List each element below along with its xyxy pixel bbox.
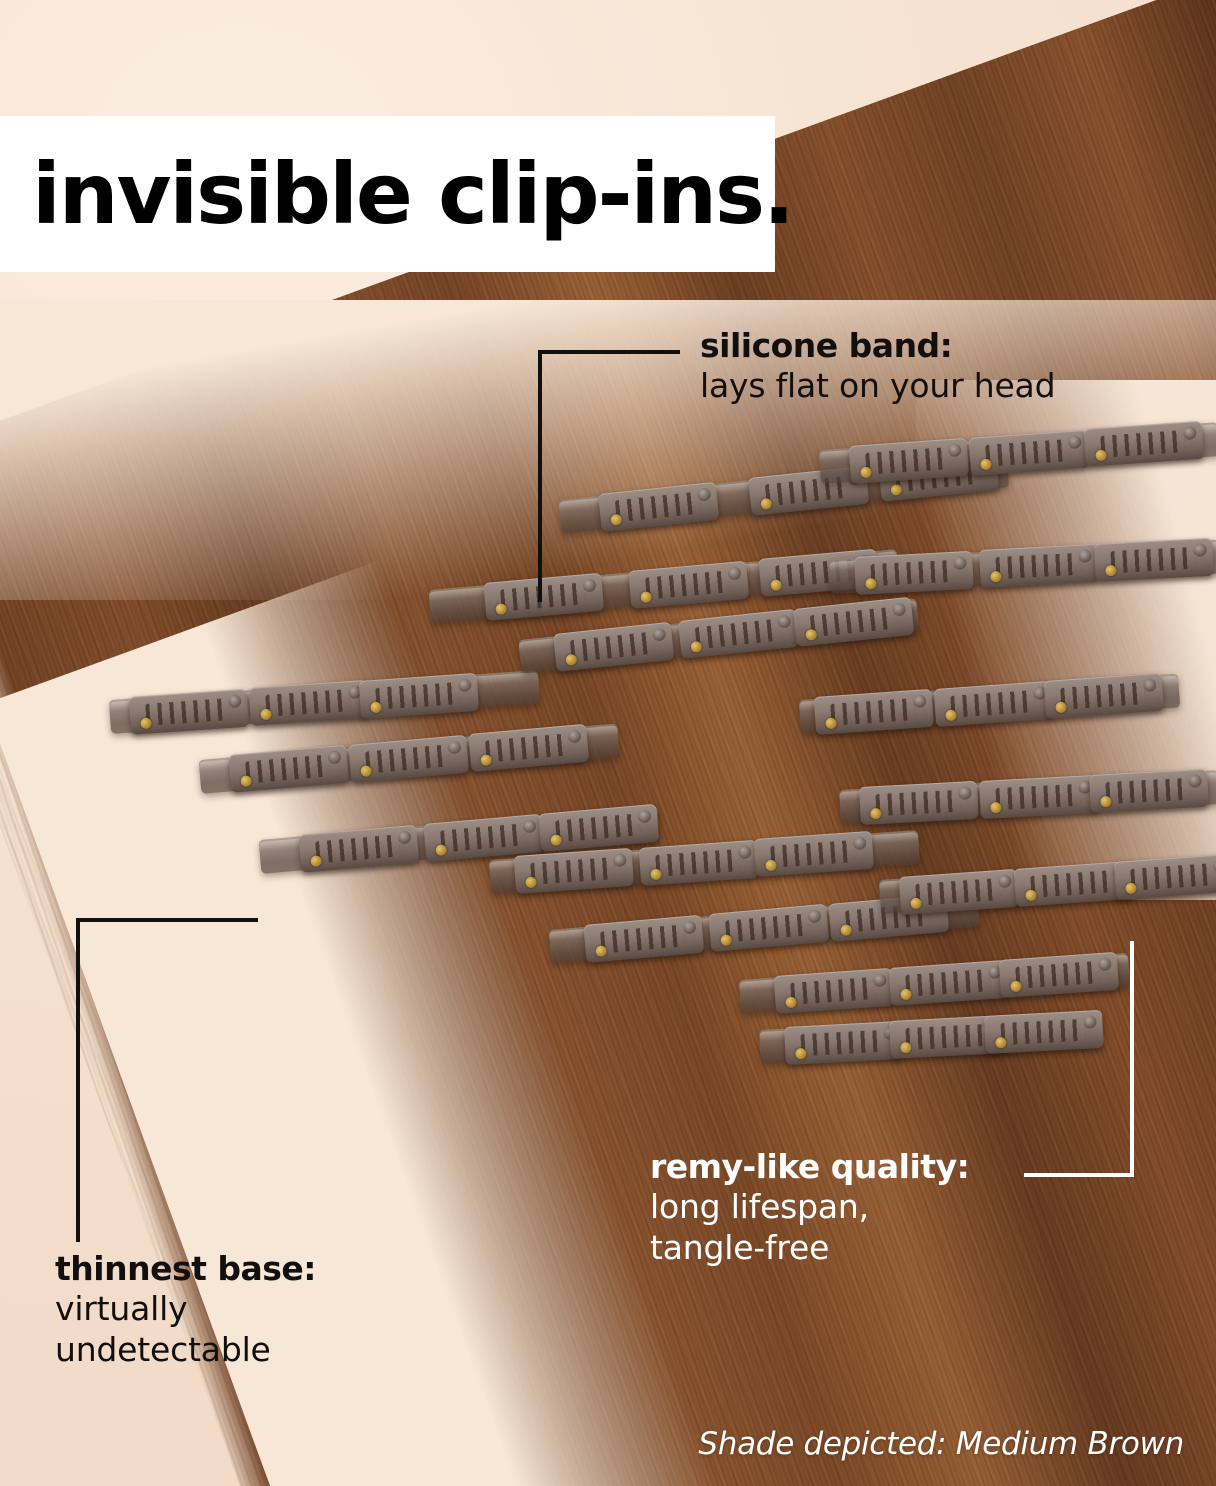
clip-teeth <box>915 878 1000 906</box>
snap-clip <box>854 551 974 595</box>
snap-clip <box>1089 769 1209 813</box>
clip-hook <box>948 443 962 457</box>
clip-rivet <box>795 1048 807 1060</box>
clip-teeth <box>245 755 331 784</box>
callout-heading: silicone band: <box>700 327 1055 365</box>
clip-teeth <box>485 734 571 763</box>
clip-teeth <box>875 790 960 816</box>
clip-teeth <box>265 689 350 717</box>
snap-clip <box>359 672 479 718</box>
clip-rivet <box>480 755 492 767</box>
clip-rivet <box>995 1037 1007 1049</box>
clip-hook <box>777 615 791 629</box>
clip-teeth <box>905 969 990 997</box>
clip-hook <box>998 874 1012 888</box>
snap-clip <box>1044 673 1164 719</box>
clip-rivet <box>1095 450 1107 462</box>
clip-hook <box>1193 543 1207 557</box>
clip-rivet <box>720 934 732 946</box>
leader-vertical-segment <box>1130 941 1134 1177</box>
clip-rivet <box>435 844 447 856</box>
clip-hook <box>522 819 536 833</box>
snap-clip <box>1114 853 1216 899</box>
clip-rivet <box>690 641 702 653</box>
snap-clip <box>859 781 979 825</box>
clip-rivet <box>860 466 872 478</box>
clip-hook <box>682 920 696 934</box>
clip-teeth <box>985 439 1070 467</box>
clip-teeth <box>995 553 1080 579</box>
clip-teeth <box>1105 778 1190 804</box>
clip-rivet <box>990 802 1002 814</box>
clip-hook <box>913 694 927 708</box>
clip-rivet <box>840 924 852 936</box>
clip-rivet <box>1100 796 1112 808</box>
clip-rivet <box>760 498 772 510</box>
clip-teeth <box>375 682 460 710</box>
clip-hook <box>953 556 967 570</box>
snap-clip <box>899 868 1019 914</box>
clip-teeth <box>800 1029 885 1055</box>
clip-teeth <box>655 849 740 877</box>
snap-clip <box>129 688 249 734</box>
clip-teeth <box>865 447 950 475</box>
leader-horizontal-segment <box>76 918 258 922</box>
clip-teeth <box>695 619 781 650</box>
clip-rivet <box>1125 882 1137 894</box>
clip-rivet <box>370 701 382 713</box>
clip-rivet <box>1105 565 1117 577</box>
clip-teeth <box>1110 547 1195 573</box>
clip-rivet <box>980 458 992 470</box>
callout-body: lays flat on your head <box>700 365 1055 406</box>
clip-hook <box>637 809 651 823</box>
clip-teeth <box>1130 863 1215 891</box>
callout-body: virtually undetectable <box>55 1288 316 1371</box>
clip-hook <box>397 830 411 844</box>
snap-clip <box>969 429 1089 475</box>
clip-rivet <box>565 654 577 666</box>
clip-rivet <box>260 709 272 721</box>
clip-rivet <box>1010 980 1022 992</box>
leader-vertical-segment <box>538 350 542 602</box>
clip-hook <box>807 909 821 923</box>
clip-hook <box>697 487 711 501</box>
title-banner: invisible clip-ins. <box>0 116 775 272</box>
clip-teeth <box>810 607 896 638</box>
clip-rivet <box>240 776 252 788</box>
clip-hook <box>228 694 242 708</box>
clip-rivet <box>785 996 797 1008</box>
page-title: invisible clip-ins. <box>0 152 793 236</box>
clip-rivet <box>140 717 152 729</box>
clip-teeth <box>555 813 641 842</box>
clip-teeth <box>440 823 526 852</box>
clip-rivet <box>990 571 1002 583</box>
leader-line-silicone-band <box>538 350 680 602</box>
clip-hook <box>327 751 341 765</box>
clip-hook <box>727 566 741 580</box>
clip-rivet <box>525 877 537 889</box>
clip-hook <box>1068 435 1082 449</box>
clip-teeth <box>315 834 401 863</box>
clip-teeth <box>870 559 955 585</box>
clip-teeth <box>365 744 451 773</box>
clip-teeth <box>905 1024 990 1050</box>
snap-clip <box>1094 538 1214 582</box>
clip-rivet <box>870 808 882 820</box>
snap-clip <box>889 959 1009 1005</box>
snap-clip <box>849 438 969 484</box>
snap-clip <box>814 689 934 735</box>
clip-rivet <box>890 484 902 496</box>
callout-heading: thinnest base: <box>55 1250 316 1288</box>
clip-rivet <box>900 1042 912 1054</box>
clip-rivet <box>865 578 877 590</box>
clip-hook <box>567 730 581 744</box>
clip-rivet <box>360 765 372 777</box>
clip-rivet <box>1025 889 1037 901</box>
leader-vertical-segment <box>76 918 80 1242</box>
callout-heading: remy-like quality: <box>650 1148 969 1186</box>
callout-remy-quality: remy-like quality: long lifespan, tangle… <box>650 1148 969 1268</box>
callout-thinnest-base: thinnest base: virtually undetectable <box>55 1250 316 1370</box>
clip-hook <box>447 740 461 754</box>
clip-teeth <box>530 857 615 885</box>
clip-teeth <box>1030 870 1115 898</box>
snap-clip <box>639 839 759 885</box>
clip-hook <box>1078 549 1092 563</box>
callout-silicone-band: silicone band: lays flat on your head <box>700 327 1055 406</box>
leader-line-remy-quality <box>1024 941 1134 1177</box>
clip-teeth <box>1100 431 1185 459</box>
clip-rivet <box>1055 701 1067 713</box>
clip-rivet <box>805 629 817 641</box>
clip-hook <box>738 845 752 859</box>
clip-teeth <box>995 783 1080 809</box>
callout-body: long lifespan, tangle-free <box>650 1186 969 1269</box>
clip-teeth <box>950 690 1035 718</box>
clip-hook <box>1143 678 1157 692</box>
clip-rivet <box>650 868 662 880</box>
clip-rivet <box>765 860 777 872</box>
clip-teeth <box>600 924 686 953</box>
snap-clip <box>979 544 1099 588</box>
clip-hook <box>892 602 906 616</box>
clip-rivet <box>550 834 562 846</box>
clip-rivet <box>945 709 957 721</box>
leader-horizontal-segment <box>1024 1173 1134 1177</box>
shade-depicted-note: Shade depicted: Medium Brown <box>698 1426 1184 1462</box>
infographic-canvas: invisible clip-ins. silicone band: lays … <box>0 0 1216 1486</box>
clip-rivet <box>595 945 607 957</box>
clip-hook <box>853 837 867 851</box>
clip-hook <box>613 853 627 867</box>
clip-teeth <box>570 632 656 663</box>
clip-hook <box>1188 774 1202 788</box>
clip-teeth <box>725 913 811 942</box>
clip-rivet <box>310 855 322 867</box>
snap-clip <box>784 1021 904 1065</box>
leader-horizontal-segment <box>538 350 680 354</box>
snap-clip <box>979 775 1099 819</box>
clip-teeth <box>790 977 875 1005</box>
clip-hook <box>1183 427 1197 441</box>
clip-rivet <box>495 603 507 615</box>
clip-teeth <box>1060 682 1145 710</box>
clip-rivet <box>910 897 922 909</box>
clip-teeth <box>770 841 855 869</box>
clip-rivet <box>770 579 782 591</box>
clip-hook <box>958 786 972 800</box>
snap-clip <box>934 680 1054 726</box>
snap-clip <box>774 967 894 1013</box>
clip-hook <box>458 678 472 692</box>
clip-hook <box>873 973 887 987</box>
clip-teeth <box>145 698 230 726</box>
leader-line-thinnest-base <box>76 918 258 1242</box>
clip-teeth <box>830 698 915 726</box>
clip-rivet <box>825 717 837 729</box>
clip-rivet <box>900 988 912 1000</box>
